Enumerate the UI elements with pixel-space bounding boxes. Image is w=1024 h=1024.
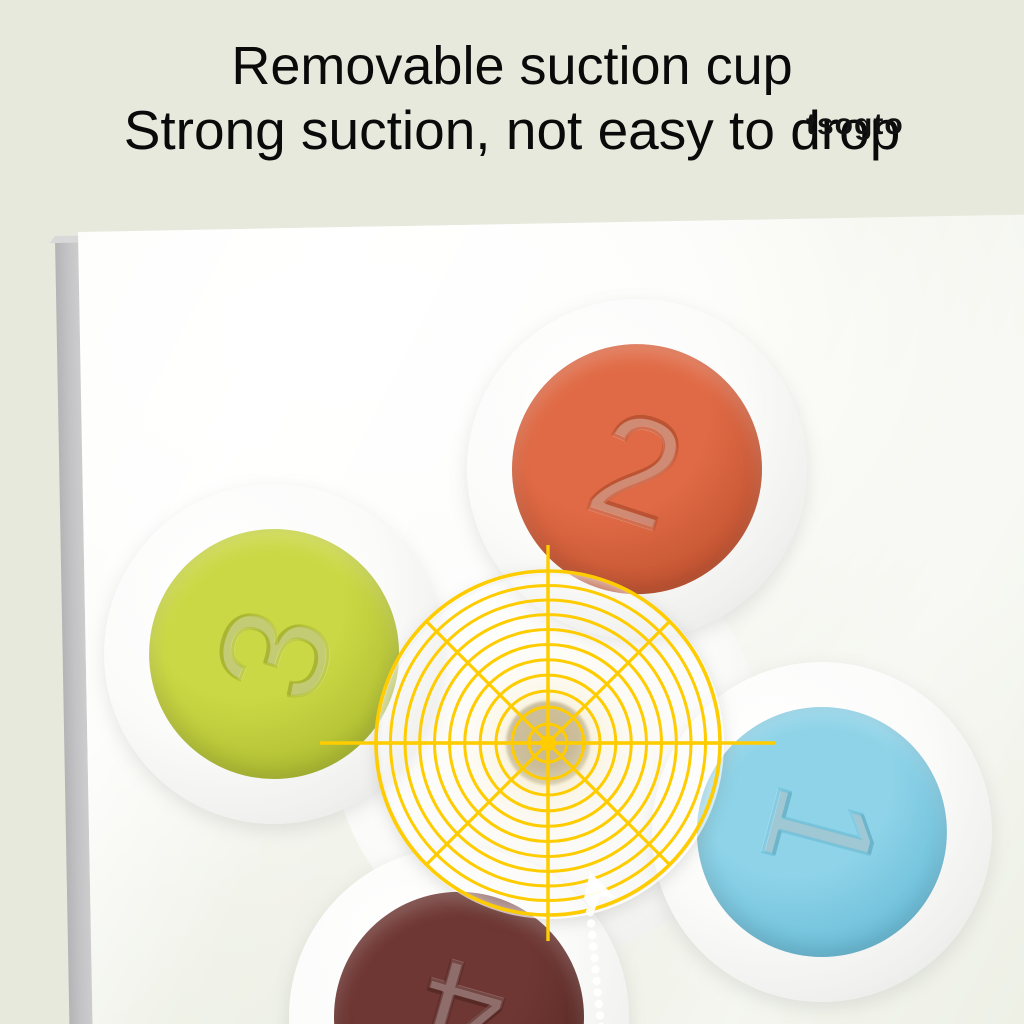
product-image-canvas: 1234 Removable suction cup Strong suctio… bbox=[0, 0, 1024, 1024]
suction-cup-center-nub bbox=[506, 701, 590, 785]
